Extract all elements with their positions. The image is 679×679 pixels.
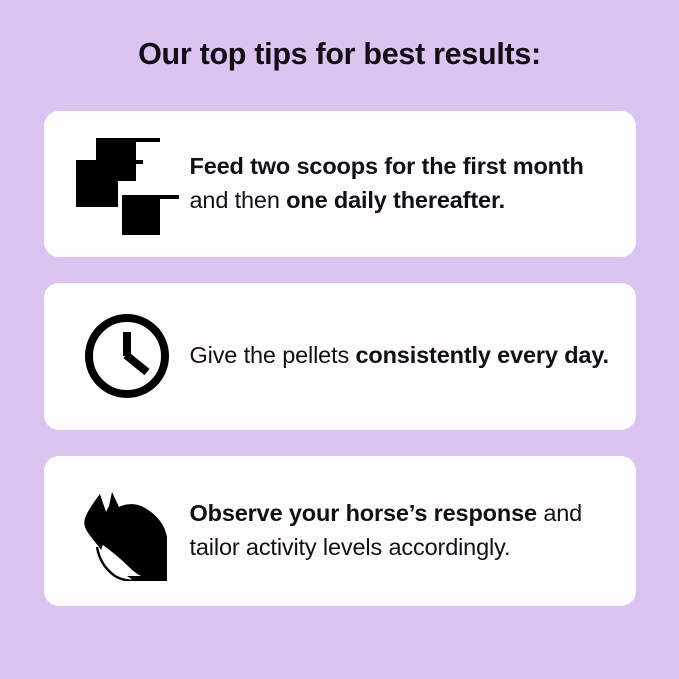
tip-segment-bold: Feed two scoops for the first month	[190, 153, 584, 179]
tip-card-observation: Observe your horse’s response and tailor…	[44, 456, 636, 606]
tip-segment-bold: Observe your horse’s response	[190, 500, 537, 526]
tip-segment-bold-2: one daily thereafter.	[286, 187, 505, 213]
tip-segment-bold: consistently every day.	[355, 342, 608, 368]
tip-segment-regular: and then	[190, 187, 287, 213]
tip-text-feeding: Feed two scoops for the first month and …	[190, 150, 618, 217]
tips-infographic: Our top tips for best results:	[0, 0, 679, 679]
page-title: Our top tips for best results:	[138, 36, 541, 73]
tips-card-list: Feed two scoops for the first month and …	[44, 111, 636, 606]
measuring-scoops-icon	[64, 132, 190, 236]
horse-head-icon	[64, 481, 190, 581]
tip-card-feeding: Feed two scoops for the first month and …	[44, 111, 636, 257]
tip-card-consistency: Give the pellets consistently every day.	[44, 283, 636, 430]
tip-text-observation: Observe your horse’s response and tailor…	[190, 497, 618, 564]
tip-segment-regular: Give the pellets	[190, 342, 356, 368]
clock-icon	[64, 310, 190, 402]
tip-text-consistency: Give the pellets consistently every day.	[190, 339, 618, 373]
